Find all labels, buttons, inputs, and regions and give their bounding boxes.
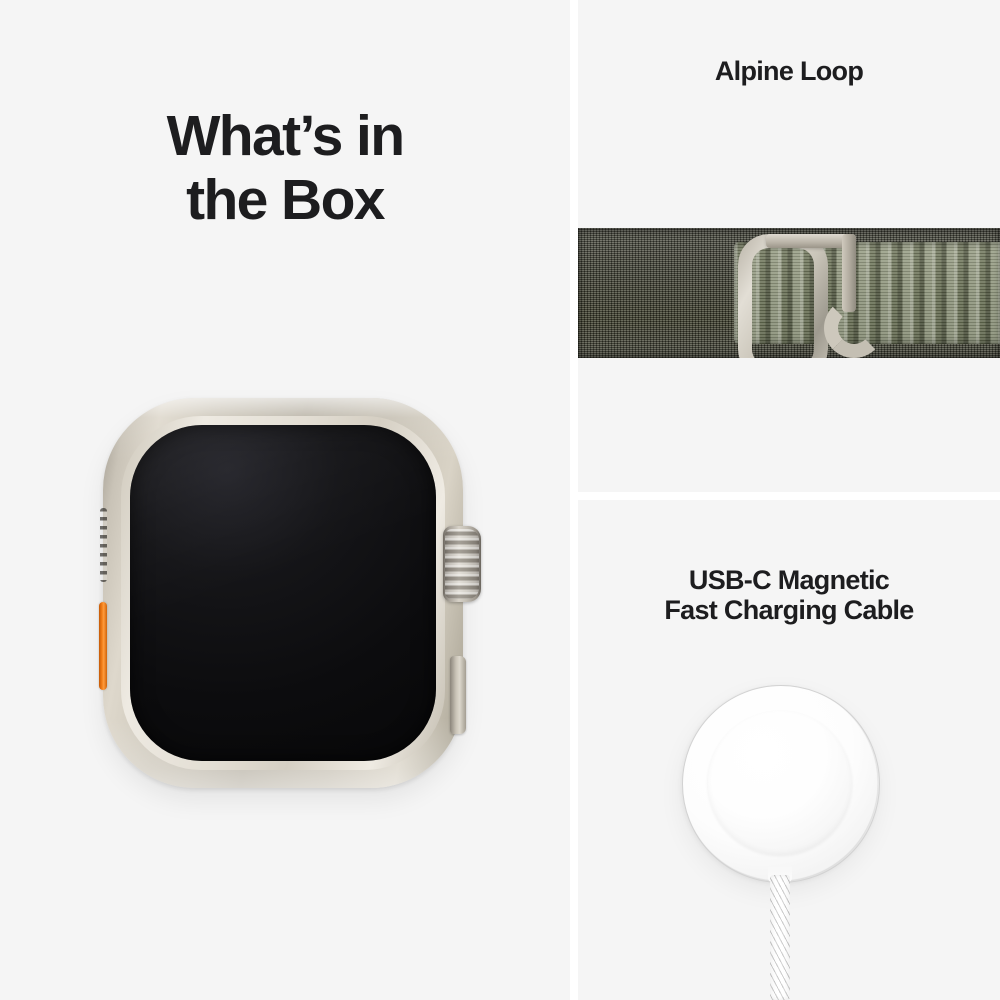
buckle-hook-tip: [824, 298, 884, 358]
watch-display-screen: [130, 425, 436, 761]
watch-side-button[interactable]: [450, 656, 466, 734]
alpine-loop-g-hook-buckle: [738, 234, 856, 352]
watch-action-button[interactable]: [99, 602, 107, 690]
panel-apple-watch: What’s inthe Box: [0, 0, 570, 1000]
panel-charging-cable: USB-C MagneticFast Charging Cable: [578, 500, 1000, 1000]
charging-cable-braided-cord: [770, 875, 790, 1000]
alpine-loop-label: Alpine Loop: [578, 56, 1000, 86]
buckle-loop-ring: [738, 234, 828, 358]
apple-watch-ultra-image: [95, 398, 485, 788]
digital-crown[interactable]: [443, 526, 481, 602]
watch-speaker-grille: [100, 508, 107, 582]
alpine-loop-image: [578, 228, 1000, 358]
panel-alpine-loop: Alpine Loop: [578, 0, 1000, 492]
charging-cable-image: [578, 500, 1000, 1000]
page-title-line-2: the Box: [186, 168, 384, 232]
charging-puck-inner-disc: [708, 711, 852, 855]
page-title-line-1: What’s in: [167, 104, 404, 168]
whats-in-the-box-figure: What’s inthe Box Alpine Loop: [0, 0, 1000, 1000]
page-title: What’s inthe Box: [0, 104, 570, 233]
